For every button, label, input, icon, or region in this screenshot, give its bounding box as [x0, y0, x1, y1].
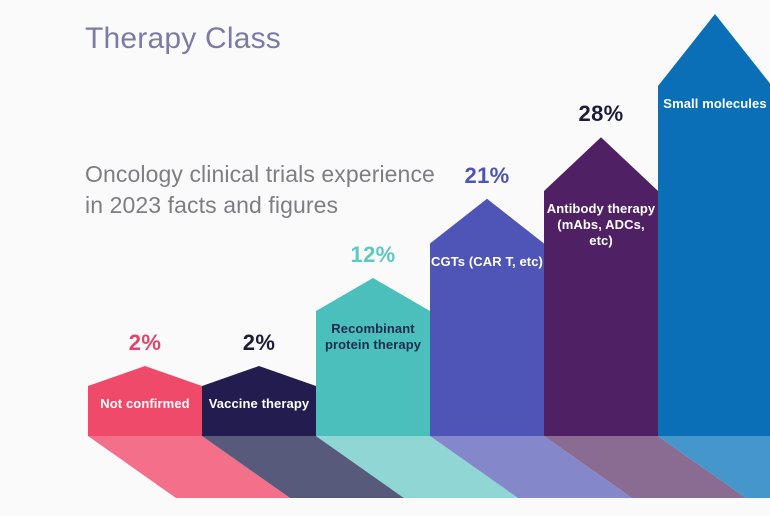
bar-label-line: Not confirmed	[88, 396, 202, 412]
bar-label-line: CGTs (CAR T, etc)	[430, 254, 544, 270]
bar-value-5: 28%	[544, 101, 658, 127]
bar-label-3: Recombinantprotein therapy	[316, 321, 430, 353]
bar-label-line: Vaccine therapy	[202, 396, 316, 412]
bar-chart: Not confirmed2%Vaccine therapy2%Recombin…	[0, 0, 770, 516]
bar-label-5: Antibody therapy(mAbs, ADCs, etc)	[544, 201, 658, 249]
bar-label-line: Antibody therapy	[544, 201, 658, 217]
bar-value-4: 21%	[430, 163, 544, 189]
bar-labels-layer: Not confirmed2%Vaccine therapy2%Recombin…	[0, 0, 770, 516]
chart-canvas: Not confirmed2%Vaccine therapy2%Recombin…	[0, 0, 770, 516]
bar-value-1: 2%	[88, 330, 202, 356]
bar-label-4: CGTs (CAR T, etc)	[430, 254, 544, 270]
bar-label-line: protein therapy	[316, 337, 430, 353]
bar-label-6: Small molecules	[658, 96, 770, 112]
bar-value-3: 12%	[316, 242, 430, 268]
bar-label-2: Vaccine therapy	[202, 396, 316, 412]
bar-label-1: Not confirmed	[88, 396, 202, 412]
bar-value-6: 42%	[658, 0, 770, 4]
chart-subtitle: Oncology clinical trials experience in 2…	[85, 159, 435, 221]
bar-label-line: Small molecules	[658, 96, 770, 112]
subtitle-line-1: Oncology clinical trials experience	[85, 161, 435, 187]
subtitle-line-2: in 2023 facts and figures	[85, 190, 435, 221]
bar-label-line: (mAbs, ADCs, etc)	[544, 217, 658, 249]
bar-label-line: Recombinant	[316, 321, 430, 337]
bar-value-2: 2%	[202, 330, 316, 356]
page-title: Therapy Class	[85, 22, 281, 56]
